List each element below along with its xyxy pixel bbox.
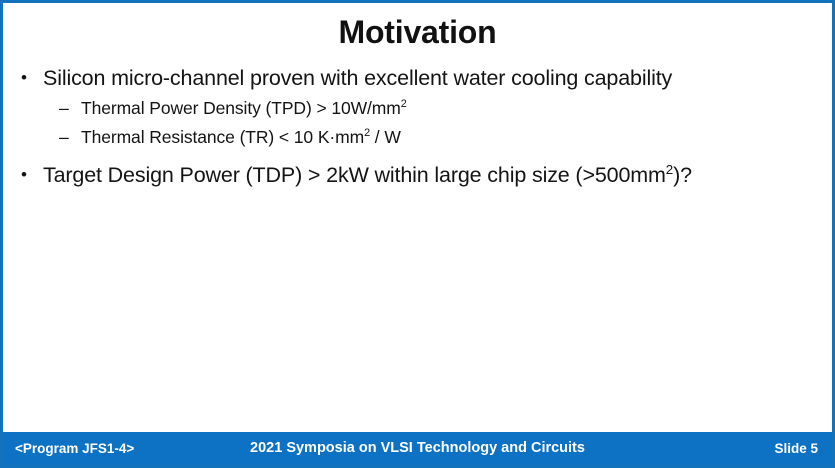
footer-slide-number: Slide 5	[774, 432, 818, 465]
bullet-item-3: – Thermal Resistance (TR) < 10 K·mm2 / W	[18, 123, 820, 152]
bullet-item-3-text-after: / W	[370, 127, 401, 147]
bullet-item-1-text: Silicon micro-channel proven with excell…	[43, 66, 672, 90]
bullet-dot-icon: •	[21, 160, 27, 190]
page-title: Motivation	[3, 12, 832, 52]
bullet-item-2-superscript: 2	[401, 98, 407, 110]
bullet-item-4: • Target Design Power (TDP) > 2kW within…	[18, 160, 820, 190]
bullet-item-4-superscript: 2	[666, 162, 673, 177]
bullet-dash-icon: –	[59, 94, 69, 123]
slide-footer: <Program JFS1-4> 2021 Symposia on VLSI T…	[3, 432, 832, 465]
slide-canvas: Motivation • Silicon micro-channel prove…	[3, 3, 832, 465]
footer-conference-label: 2021 Symposia on VLSI Technology and Cir…	[3, 432, 832, 465]
bullet-item-3-text: Thermal Resistance (TR) < 10 K·mm	[81, 127, 364, 147]
bullet-item-4-text-after: )?	[673, 163, 692, 187]
bullet-dot-icon: •	[21, 63, 27, 93]
bullet-item-4-text: Target Design Power (TDP) > 2kW within l…	[43, 163, 666, 187]
bullet-dash-icon: –	[59, 123, 69, 152]
bullet-item-2-text: Thermal Power Density (TPD) > 10W/mm	[81, 98, 401, 118]
slide-body: • Silicon micro-channel proven with exce…	[18, 63, 820, 191]
bullet-item-2: – Thermal Power Density (TPD) > 10W/mm2	[18, 94, 820, 123]
bullet-item-1: • Silicon micro-channel proven with exce…	[18, 63, 820, 93]
presentation-slide: Motivation • Silicon micro-channel prove…	[0, 0, 835, 468]
